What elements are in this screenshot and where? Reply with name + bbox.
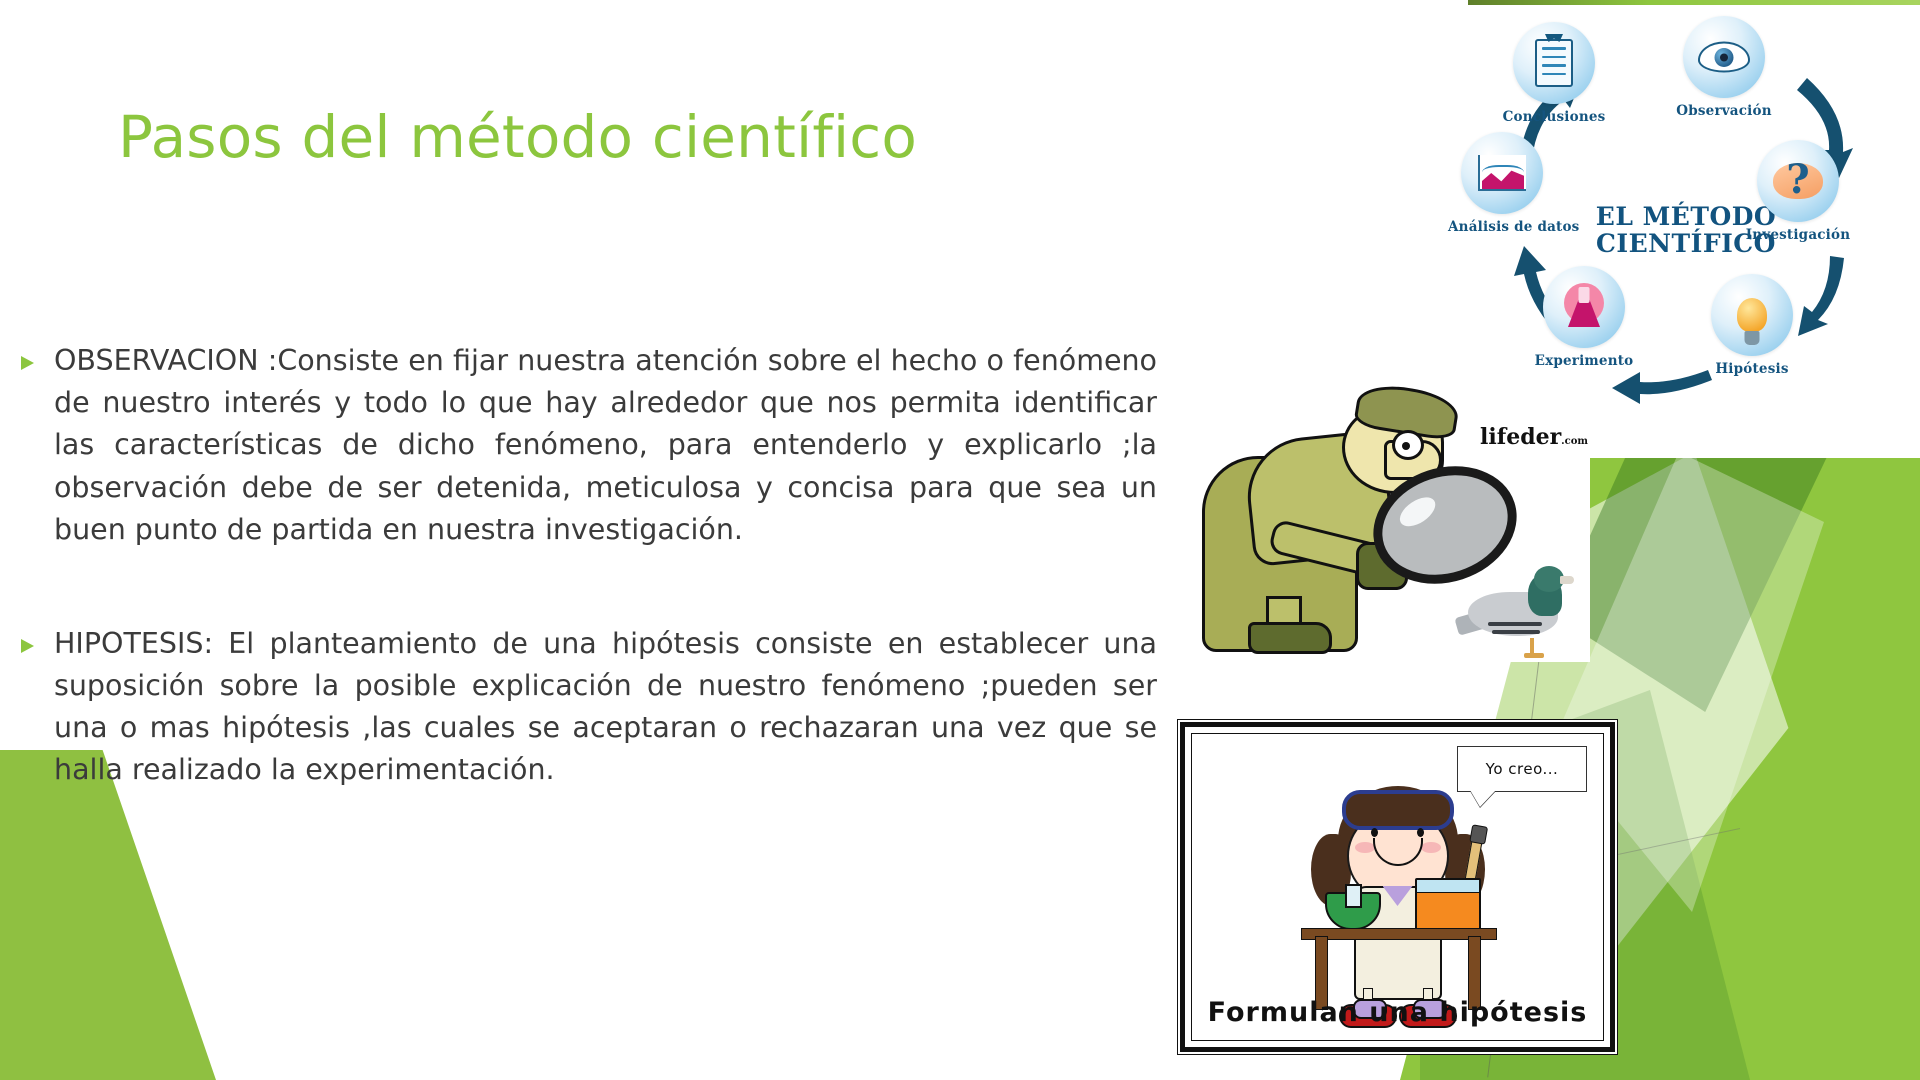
bullet-text-observacion: OBSERVACION :Consiste en fijar nuestra a…: [54, 340, 1185, 551]
page-title: Pasos del método científico: [118, 108, 917, 166]
chart-icon: [1461, 132, 1543, 214]
flask-icon: [1543, 266, 1625, 348]
detective-observation-image: lifeder.com: [1190, 372, 1590, 662]
girl-eye-left: [1371, 828, 1378, 837]
lifeder-watermark-text: lifeder: [1480, 424, 1561, 450]
detective-shoe: [1248, 622, 1332, 654]
hypothesis-image: Yo creo...: [1180, 722, 1615, 1052]
decorative-green-top-rule: [1468, 0, 1920, 5]
brain-question-icon: ?: [1757, 140, 1839, 222]
lightbulb-icon: [1711, 274, 1793, 356]
cycle-node-observacion[interactable]: Observación: [1670, 16, 1778, 119]
girl-scientist-figure: [1293, 776, 1503, 994]
girl-blush-right: [1421, 842, 1441, 853]
pigeon-wing-stripe-1: [1488, 622, 1542, 626]
pigeon-beak: [1560, 576, 1574, 584]
cycle-node-label: Experimento: [1530, 353, 1638, 369]
lifeder-watermark-suffix: .com: [1561, 436, 1588, 447]
orange-beaker-icon: [1415, 878, 1481, 934]
safety-goggles-icon: [1342, 790, 1454, 830]
lifeder-watermark: lifeder.com: [1480, 424, 1588, 450]
cycle-node-experimento[interactable]: Experimento: [1530, 266, 1638, 369]
cycle-node-analisis-de-datos[interactable]: Análisis de datos: [1448, 132, 1556, 235]
detective-eye: [1392, 430, 1424, 460]
slide-canvas: Pasos del método científico OBSERVACION …: [0, 0, 1920, 1080]
cycle-node-conclusiones[interactable]: Conclusiones: [1500, 22, 1608, 125]
cycle-node-label: Investigación: [1744, 227, 1852, 243]
girl-blush-left: [1355, 842, 1375, 853]
pigeon-wing-stripe-2: [1492, 630, 1540, 634]
clipboard-icon: [1513, 22, 1595, 104]
pigeon-figure: [1464, 560, 1568, 656]
cycle-node-label: Hipótesis: [1698, 361, 1806, 377]
list-item: OBSERVACION :Consiste en fijar nuestra a…: [0, 340, 1185, 551]
hypothesis-image-frame: Yo creo...: [1191, 733, 1604, 1041]
cycle-node-label: Análisis de datos: [1448, 219, 1556, 235]
cycle-node-hipotesis[interactable]: Hipótesis: [1698, 274, 1806, 377]
cycle-node-label: Observación: [1670, 103, 1778, 119]
cycle-node-label: Conclusiones: [1500, 109, 1608, 125]
hypothesis-image-caption: Formulan una hipótesis: [1192, 997, 1603, 1028]
girl-eye-right: [1417, 828, 1424, 837]
triangle-bullet-icon: [0, 340, 54, 370]
bullet-text-hipotesis: HIPOTESIS: El planteamiento de una hipót…: [54, 623, 1185, 792]
pigeon-foot: [1524, 653, 1544, 658]
cycle-node-investigacion[interactable]: ? Investigación: [1744, 140, 1852, 243]
eye-icon: [1683, 16, 1765, 98]
green-flask-icon: [1325, 884, 1377, 930]
content-body: OBSERVACION :Consiste en fijar nuestra a…: [0, 340, 1185, 864]
list-item: HIPOTESIS: El planteamiento de una hipót…: [0, 623, 1185, 792]
triangle-bullet-icon: [0, 623, 54, 653]
